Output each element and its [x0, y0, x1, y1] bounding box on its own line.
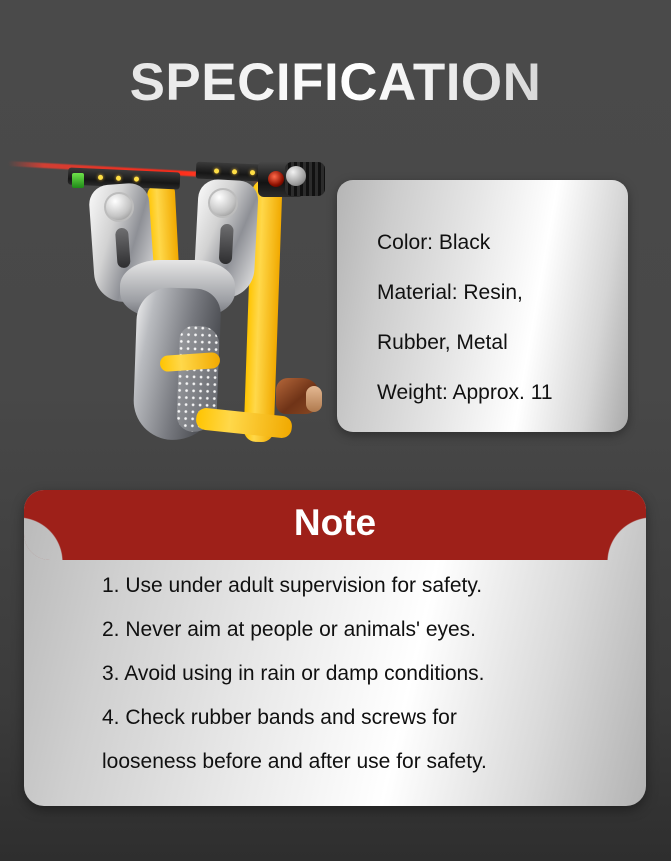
product-image	[0, 140, 345, 440]
note-banner-title: Note	[24, 490, 646, 560]
spec-line: Color: Black	[377, 218, 628, 268]
laser-lens-icon	[268, 171, 284, 187]
fork-cutout	[115, 228, 131, 269]
note-list: 1. Use under adult supervision for safet…	[102, 564, 622, 784]
leather-pouch-edge	[306, 386, 322, 412]
rail-indicator-dot	[232, 169, 237, 174]
front-sight-icon	[72, 173, 84, 188]
rail-indicator-dot	[250, 170, 255, 175]
rail-indicator-dot	[98, 175, 103, 180]
laser-end-cap	[286, 166, 306, 186]
fork-tension-knob-right	[208, 188, 238, 218]
note-list-item: 2. Never aim at people or animals' eyes.	[102, 608, 622, 652]
spec-line: Rubber, Metal	[377, 318, 628, 368]
rail-indicator-dot	[116, 176, 121, 181]
rail-indicator-dot	[214, 168, 219, 173]
note-list-item: 3. Avoid using in rain or damp condition…	[102, 652, 622, 696]
page-title: SPECIFICATION	[0, 52, 671, 113]
fork-tension-knob-left	[104, 192, 134, 222]
spec-line: Material: Resin,	[377, 268, 628, 318]
rubber-band-bottom	[195, 407, 293, 439]
fork-cutout	[219, 224, 234, 265]
specification-page: SPECIFICATION	[0, 0, 671, 861]
note-list-item: looseness before and after use for safet…	[102, 740, 622, 784]
note-card: Note 1. Use under adult supervision for …	[24, 490, 646, 806]
rail-indicator-dot	[134, 176, 139, 181]
specification-card: Color: Black Material: Resin, Rubber, Me…	[337, 180, 628, 432]
spec-line: Weight: Approx. 11	[377, 368, 628, 418]
note-list-item: 4. Check rubber bands and screws for	[102, 696, 622, 740]
note-list-item: 1. Use under adult supervision for safet…	[102, 564, 622, 608]
